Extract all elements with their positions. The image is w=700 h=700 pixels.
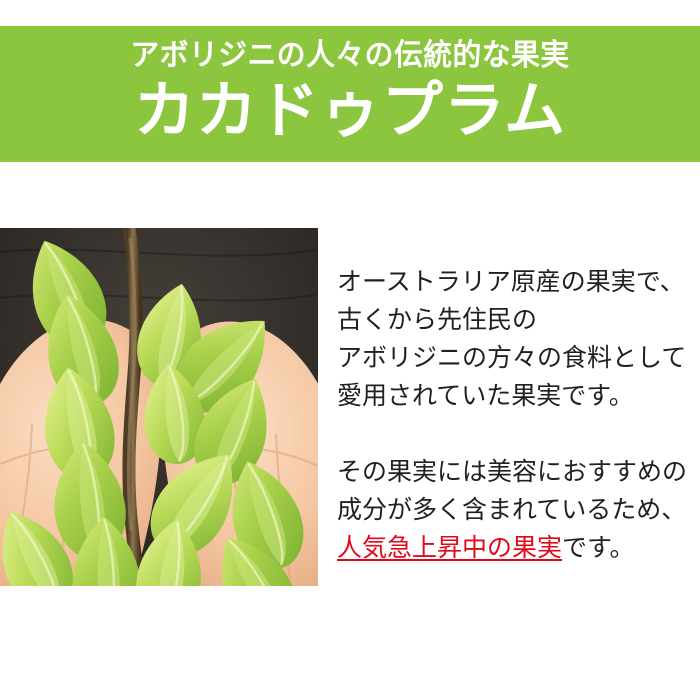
paragraph-origin-line-4: 愛用されていた果実です。	[337, 377, 693, 415]
banner-title: カカドゥプラム	[0, 71, 700, 141]
popularity-highlight-text: 人気急上昇中の果実	[337, 534, 562, 562]
paragraph-benefit-line-2: 成分が多く含まれているため、	[337, 491, 693, 529]
paragraph-origin-line-3: アボリジニの方々の食料として	[337, 339, 693, 377]
description-copy: オーストラリア原産の果実で、 古くから先住民の アボリジニの方々の食料として 愛…	[337, 263, 693, 567]
kakadu-plum-photo-illustration	[0, 228, 318, 586]
paragraph-benefit-line-1: その果実には美容におすすめの	[337, 453, 693, 491]
paragraph-benefit: その果実には美容におすすめの 成分が多く含まれているため、 人気急上昇中の果実で…	[337, 453, 693, 567]
paragraph-benefit-line-3: 人気急上昇中の果実です。	[337, 529, 693, 567]
banner-subtitle: アボリジニの人々の伝統的な果実	[14, 26, 686, 71]
paragraph-origin: オーストラリア原産の果実で、 古くから先住民の アボリジニの方々の食料として 愛…	[337, 263, 693, 415]
page-root: アボリジニの人々の伝統的な果実 カカドゥプラム	[0, 0, 700, 700]
product-photo	[0, 228, 318, 586]
paragraph-benefit-line-3-tail: です。	[562, 534, 635, 562]
header-banner: アボリジニの人々の伝統的な果実 カカドゥプラム	[0, 26, 700, 162]
paragraph-origin-line-2: 古くから先住民の	[337, 301, 693, 339]
paragraph-origin-line-1: オーストラリア原産の果実で、	[337, 263, 693, 301]
